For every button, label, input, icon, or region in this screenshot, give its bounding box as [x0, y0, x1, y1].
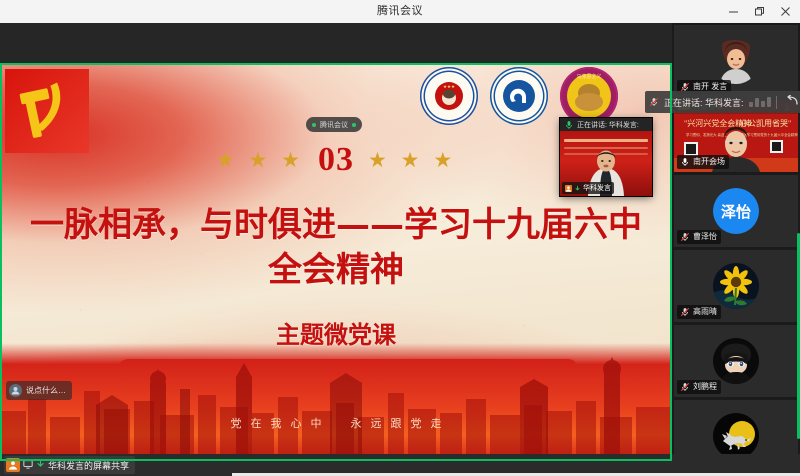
pip-name-label: 华科发言 [583, 183, 611, 193]
participant-name-badge: 刘鹏程 [677, 380, 721, 394]
pip-header-text: 正在讲话: 华科发言: [577, 120, 639, 130]
active-speaker-text: 正在讲话: 华科发言: [664, 96, 744, 109]
meeting-app-window: 腾讯会议 [0, 0, 800, 476]
restore-button[interactable] [746, 0, 772, 23]
participant-tile-0[interactable]: 南开 发言 [674, 25, 798, 97]
audio-level-indicator [749, 97, 771, 107]
user-icon [565, 185, 572, 192]
download-icon [574, 185, 581, 192]
download-icon [36, 456, 45, 474]
avatar-initials: 泽怡 [713, 188, 759, 234]
taskbar-share-item[interactable]: 华科发言的屏幕共享 [4, 456, 135, 474]
participant-name-badge: 高雨晴 [677, 305, 721, 319]
avatar [713, 413, 759, 459]
collapse-back-icon[interactable] [782, 95, 800, 109]
svg-text:深入学习贯彻党的十九届六中全会精神: 深入学习贯彻党的十九届六中全会精神 [740, 132, 798, 137]
avatar [713, 38, 759, 84]
presenter-pip-window[interactable]: 正在讲话: 华科发言: [560, 118, 652, 196]
logo-marxism-school-1: ★★★ [420, 67, 478, 125]
avatar [713, 338, 759, 384]
svg-text:心公凯用省哭": 心公凯用省哭" [740, 118, 791, 128]
pip-video: 华科发言 [560, 131, 652, 196]
mini-toolbar-label: 腾讯会议 [320, 120, 348, 130]
window-title: 腾讯会议 [0, 0, 800, 23]
pip-name-badge: 华科发言 [562, 182, 614, 194]
microphone-muted-icon [649, 97, 659, 107]
svg-text:马克思主义: 马克思主义 [576, 73, 601, 80]
chat-overlay-text: 说点什么… [26, 385, 66, 396]
minimize-button[interactable] [720, 0, 746, 23]
microphone-muted-icon [680, 307, 690, 317]
divider [776, 96, 777, 109]
microphone-muted-icon [680, 382, 690, 392]
participant-tile-2[interactable]: 泽怡 曹泽怡 [674, 175, 798, 247]
meeting-mini-toolbar[interactable]: 腾讯会议 [306, 117, 362, 132]
participant-tile-3[interactable]: 高雨晴 [674, 250, 798, 322]
close-button[interactable] [772, 0, 798, 23]
slide-slogan: 党在我心中 永远跟党走 [0, 415, 672, 431]
microphone-icon [564, 120, 574, 130]
window-controls [720, 0, 798, 23]
participant-name: 高雨晴 [693, 306, 717, 317]
chat-overlay[interactable]: 说点什么… [6, 381, 72, 400]
participant-name: 南开会场 [693, 156, 725, 167]
participant-name: 曹泽怡 [693, 231, 717, 242]
stars-left: ★ ★ ★ [216, 148, 304, 173]
monitor-icon [23, 456, 33, 474]
window-titlebar: 腾讯会议 [0, 0, 800, 24]
svg-text:★★★: ★★★ [443, 84, 455, 89]
chat-avatar-icon [9, 384, 22, 397]
city-skyline-graphic: 党在我心中 永远跟党走 [0, 343, 672, 461]
active-speaker-bar[interactable]: 正在讲话: 华科发言: [645, 91, 800, 113]
avatar: 泽怡 [713, 188, 759, 234]
meeting-stage: ★★★ 马克思主义 [0, 23, 800, 476]
pip-header: 正在讲话: 华科发言: [560, 118, 652, 131]
screen-share-taskbar: 华科发言的屏幕共享 [0, 454, 800, 476]
slide-main-title: 一脉相承，与时俱进——学习十九届六中全会精神 [26, 203, 646, 293]
network-status-icon [312, 123, 316, 127]
avatar [713, 263, 759, 309]
recording-status-icon [352, 123, 356, 127]
microphone-muted-icon [680, 82, 690, 92]
stars-right: ★ ★ ★ [368, 148, 456, 173]
microphone-icon [680, 157, 690, 167]
logo-marxism-school-2 [490, 67, 548, 125]
microphone-muted-icon [680, 232, 690, 242]
slide-number: 03 [318, 141, 354, 179]
organization-logos: ★★★ 马克思主义 [420, 67, 618, 125]
participant-name: 刘鹏程 [693, 381, 717, 392]
logo-marxism-school-3: 马克思主义 [560, 67, 618, 125]
participant-tile-4[interactable]: 刘鹏程 [674, 325, 798, 397]
taskbar-item-label: 华科发言的屏幕共享 [48, 459, 129, 472]
participant-name-badge: 南开会场 [677, 155, 729, 169]
user-icon [6, 458, 20, 472]
participant-name-badge: 曹泽怡 [677, 230, 721, 244]
